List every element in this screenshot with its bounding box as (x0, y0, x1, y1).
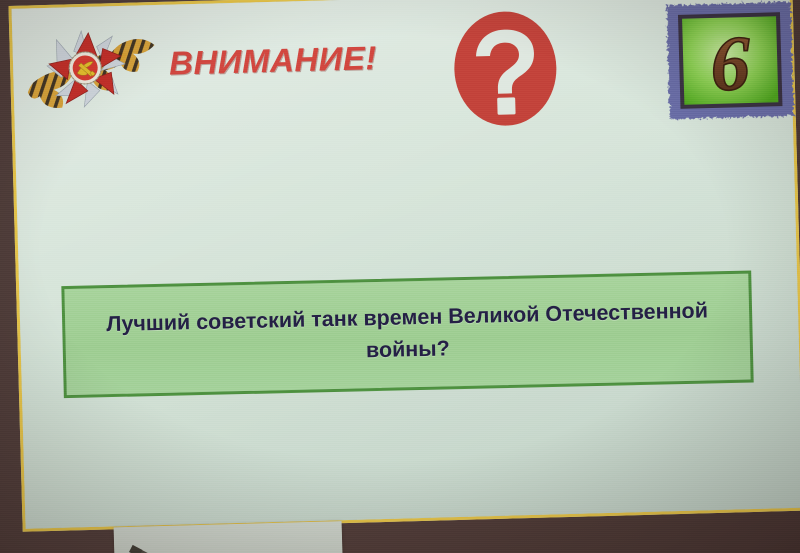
question-box: Лучший советский танк времен Великой Оте… (61, 271, 753, 399)
tank-photo (114, 521, 347, 553)
question-mark-icon (450, 8, 561, 129)
question-text: Лучший советский танк времен Великой Оте… (79, 295, 737, 374)
quiz-slide: ВНИМАНИЕ! (8, 0, 800, 532)
slide-number-badge: 6 (658, 0, 800, 125)
projected-slide-photo: ВНИМАНИЕ! (0, 0, 800, 553)
slide-header: ВНИМАНИЕ! (16, 0, 779, 139)
order-of-patriotic-war-icon (24, 21, 167, 121)
slide-number-text: 6 (710, 19, 751, 107)
attention-title: ВНИМАНИЕ! (169, 37, 440, 82)
slide-rotation-wrapper: ВНИМАНИЕ! (8, 0, 800, 548)
